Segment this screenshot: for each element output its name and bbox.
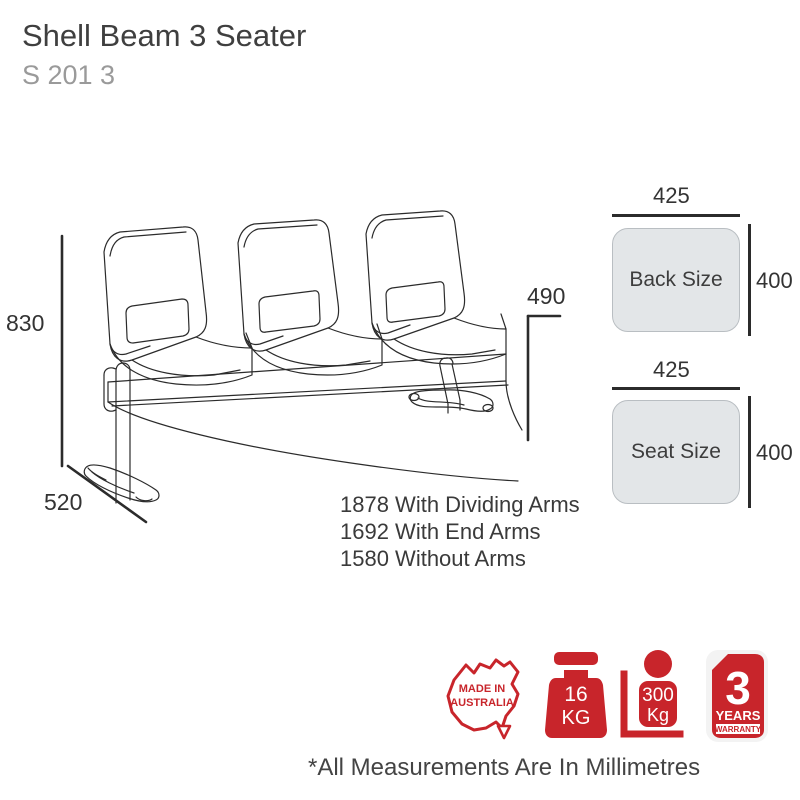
back-size-height-rule	[748, 224, 751, 336]
seat-size-height-rule	[748, 396, 751, 508]
warranty-label: YEARS	[716, 708, 761, 723]
seat-shell-2	[238, 220, 382, 375]
width-option: 1878 With Dividing Arms	[340, 491, 580, 518]
leg-left	[84, 363, 159, 503]
seat-size-height-value: 400	[756, 440, 793, 466]
weight-capacity-icon: 300 Kg	[618, 648, 688, 744]
warranty-sub: WARRANTY	[715, 725, 762, 734]
back-size-label: Back Size	[613, 268, 739, 292]
support-beam	[108, 354, 522, 481]
back-size-width-rule	[612, 214, 740, 217]
weight-value: 16	[564, 683, 587, 706]
width-option: 1692 With End Arms	[340, 518, 580, 545]
back-size-box: Back Size	[612, 228, 740, 332]
spec-sheet: Shell Beam 3 Seater S 201 3	[0, 0, 800, 800]
badge-row: MADE IN AUSTRALIA 16 KG 300 Kg 3 YEARS W…	[440, 648, 790, 748]
made-in-line1: MADE IN	[459, 683, 506, 695]
dimension-label-depth: 520	[44, 489, 82, 516]
warranty-years: 3	[725, 662, 751, 714]
capacity-unit: Kg	[647, 705, 669, 725]
measurement-units-note: *All Measurements Are In Millimetres	[308, 754, 700, 782]
seat-size-width-rule	[612, 387, 740, 390]
made-in-line2: AUSTRALIA	[450, 697, 514, 709]
width-option: 1580 Without Arms	[340, 545, 580, 572]
seat-size-width-value: 425	[653, 357, 690, 383]
back-size-width-value: 425	[653, 183, 690, 209]
capacity-value: 300	[642, 685, 674, 706]
back-size-height-value: 400	[756, 268, 793, 294]
seat-size-box: Seat Size	[612, 400, 740, 504]
width-options-list: 1878 With Dividing Arms 1692 With End Ar…	[340, 491, 580, 572]
dimension-label-seat-height: 490	[527, 283, 565, 310]
weight-unit: KG	[562, 707, 591, 729]
seat-shell-1	[104, 227, 252, 385]
dimension-label-height: 830	[6, 310, 44, 337]
weight-icon: 16 KG	[544, 648, 608, 744]
made-in-australia-icon: MADE IN AUSTRALIA	[440, 654, 532, 742]
seat-shell-3	[366, 211, 506, 364]
warranty-icon: 3 YEARS WARRANTY	[698, 648, 776, 744]
seat-size-label: Seat Size	[613, 440, 739, 464]
